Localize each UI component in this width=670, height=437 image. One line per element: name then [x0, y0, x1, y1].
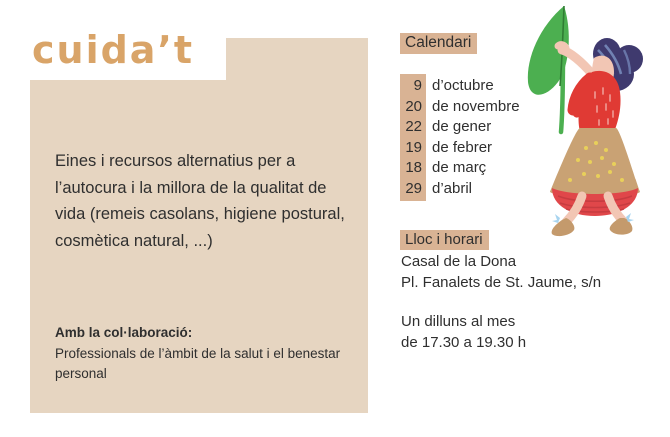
location-heading-wrap: Lloc i horari [400, 230, 489, 250]
poster-root: cuida’t Eines i recursos alternatius per… [0, 0, 670, 437]
location-heading: Lloc i horari [400, 230, 489, 250]
woman-holding-leaf-icon [500, 0, 670, 240]
location-venue: Casal de la Dona [401, 252, 601, 273]
collaboration-block: Amb la col·laboració: Professionals de l… [55, 323, 355, 385]
calendar-entry-month: de març [426, 157, 486, 180]
calendar-entry-month: d’abril [426, 178, 472, 201]
right-column: Calendari 9d’octubre20de novembre22de ge… [380, 0, 670, 437]
description-text: Eines i recursos alternatius per a l’aut… [55, 148, 355, 255]
calendar-entry-month: de gener [426, 116, 491, 139]
page-title: cuida’t [32, 28, 194, 72]
collaboration-heading: Amb la col·laboració: [55, 323, 355, 344]
calendar-entry-month: d’octubre [426, 75, 494, 98]
calendar-heading: Calendari [400, 33, 477, 54]
left-column: cuida’t Eines i recursos alternatius per… [0, 0, 380, 437]
collaboration-body: Professionals de l’àmbit de la salut i e… [55, 344, 355, 385]
calendar-heading-wrap: Calendari [400, 33, 477, 54]
schedule-hours: de 17.30 a 19.30 h [401, 333, 526, 354]
schedule-frequency: Un dilluns al mes [401, 312, 526, 333]
calendar-entry-day: 29 [400, 177, 426, 202]
location-address: Pl. Fanalets de St. Jaume, s/n [401, 273, 601, 294]
title-accent-block [226, 38, 368, 80]
calendar-entry-month: de febrer [426, 137, 492, 160]
location-lines: Casal de la Dona Pl. Fanalets de St. Jau… [401, 252, 601, 293]
schedule-lines: Un dilluns al mes de 17.30 a 19.30 h [401, 312, 526, 353]
